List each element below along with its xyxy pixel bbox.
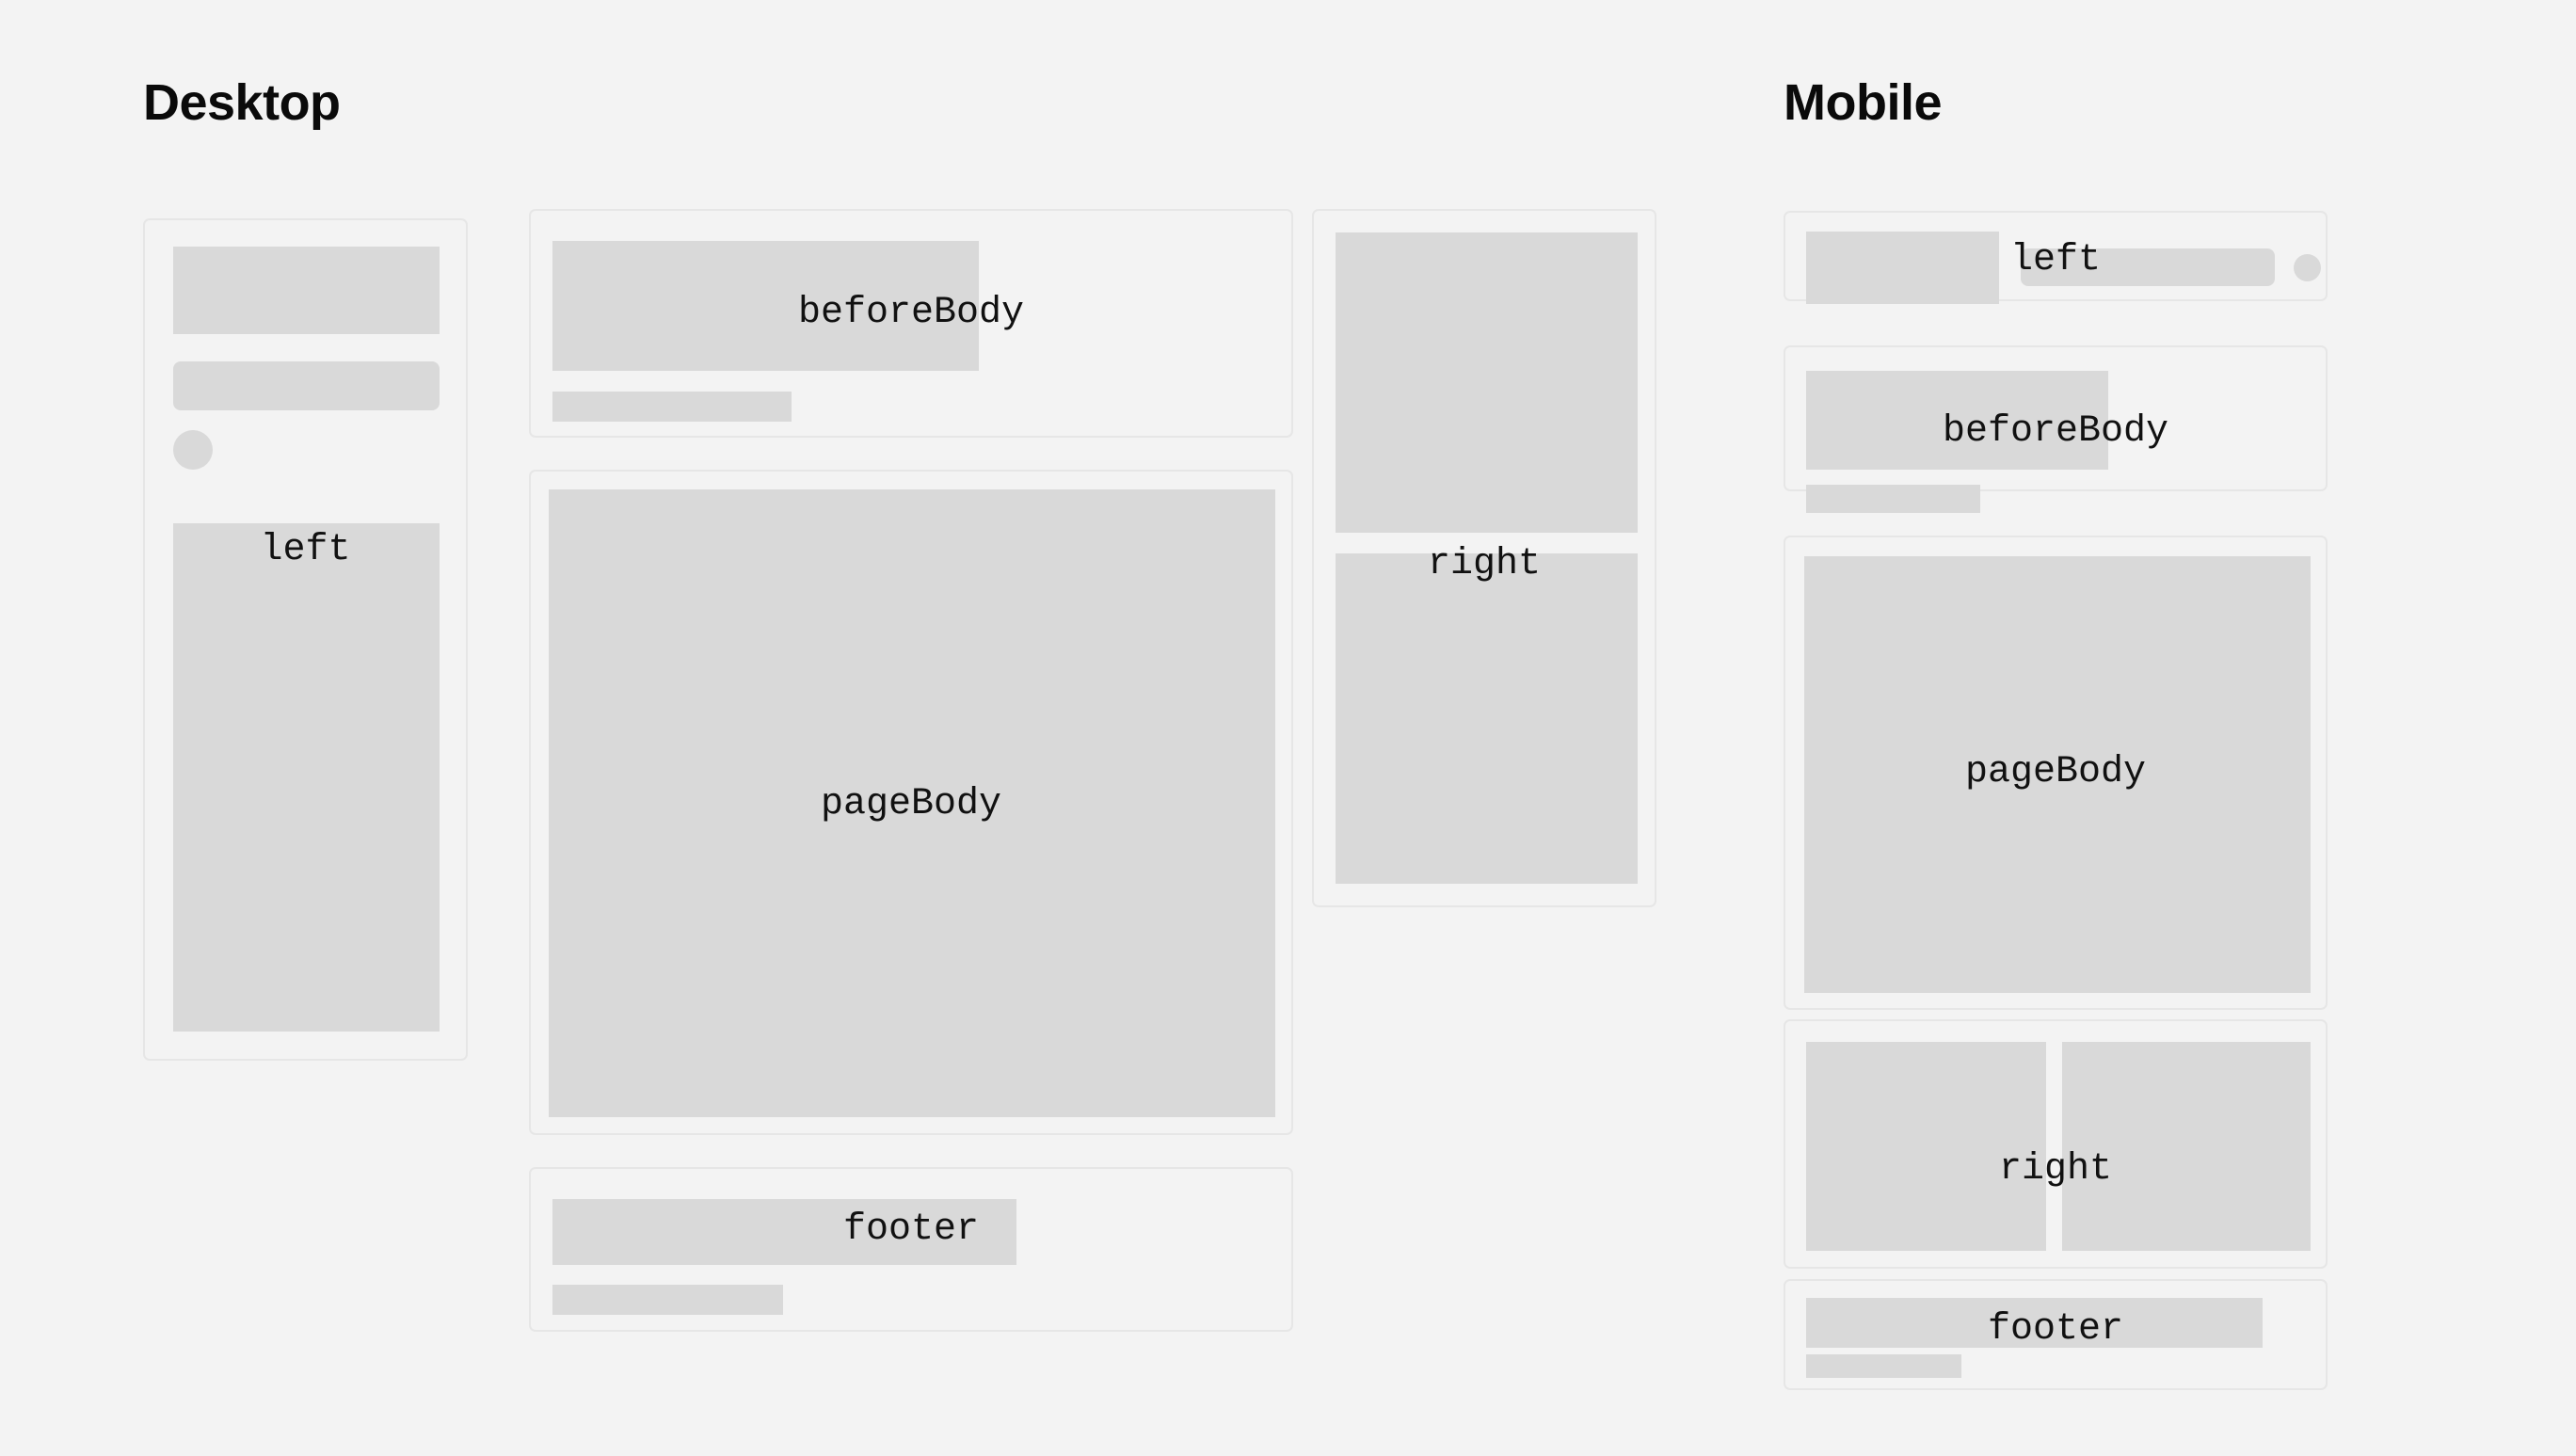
desktop-right-slot-panel[interactable]	[1312, 209, 1656, 907]
skeleton-avatar-circle	[173, 430, 213, 470]
mobile-beforebody-slot-panel[interactable]	[1784, 345, 2328, 491]
mobile-pagebody-slot-panel[interactable]	[1784, 536, 2328, 1010]
skeleton-block	[1806, 371, 2108, 470]
skeleton-block-large	[1804, 556, 2311, 993]
desktop-pagebody-slot-panel[interactable]	[529, 470, 1293, 1135]
skeleton-block	[1806, 1298, 2263, 1348]
skeleton-bar	[552, 392, 792, 422]
skeleton-block	[1806, 1042, 2046, 1251]
skeleton-avatar-circle	[2294, 254, 2321, 281]
mobile-left-slot-panel[interactable]	[1784, 211, 2328, 301]
skeleton-bar	[552, 1285, 783, 1315]
skeleton-block	[552, 1199, 1016, 1265]
skeleton-bar	[1806, 485, 1980, 513]
desktop-footer-slot-panel[interactable]	[529, 1167, 1293, 1332]
skeleton-block	[552, 241, 979, 371]
skeleton-block	[1336, 232, 1638, 533]
skeleton-bar	[1806, 1354, 1961, 1378]
desktop-section-title: Desktop	[143, 77, 341, 128]
mobile-section-title: Mobile	[1784, 77, 1942, 128]
skeleton-block-large	[173, 523, 440, 1032]
skeleton-block	[1806, 232, 1999, 304]
mobile-footer-slot-panel[interactable]	[1784, 1279, 2328, 1390]
wireframe-preview-stage: Desktop left beforeBody pageBody right f…	[0, 0, 2576, 1456]
skeleton-block	[1336, 553, 1638, 884]
mobile-right-slot-panel[interactable]	[1784, 1019, 2328, 1269]
skeleton-block-large	[549, 489, 1275, 1117]
skeleton-block	[173, 247, 440, 334]
desktop-beforebody-slot-panel[interactable]	[529, 209, 1293, 438]
skeleton-block	[2062, 1042, 2311, 1251]
desktop-left-slot-panel[interactable]	[143, 218, 468, 1061]
skeleton-bar	[173, 361, 440, 410]
skeleton-bar	[2021, 248, 2275, 286]
